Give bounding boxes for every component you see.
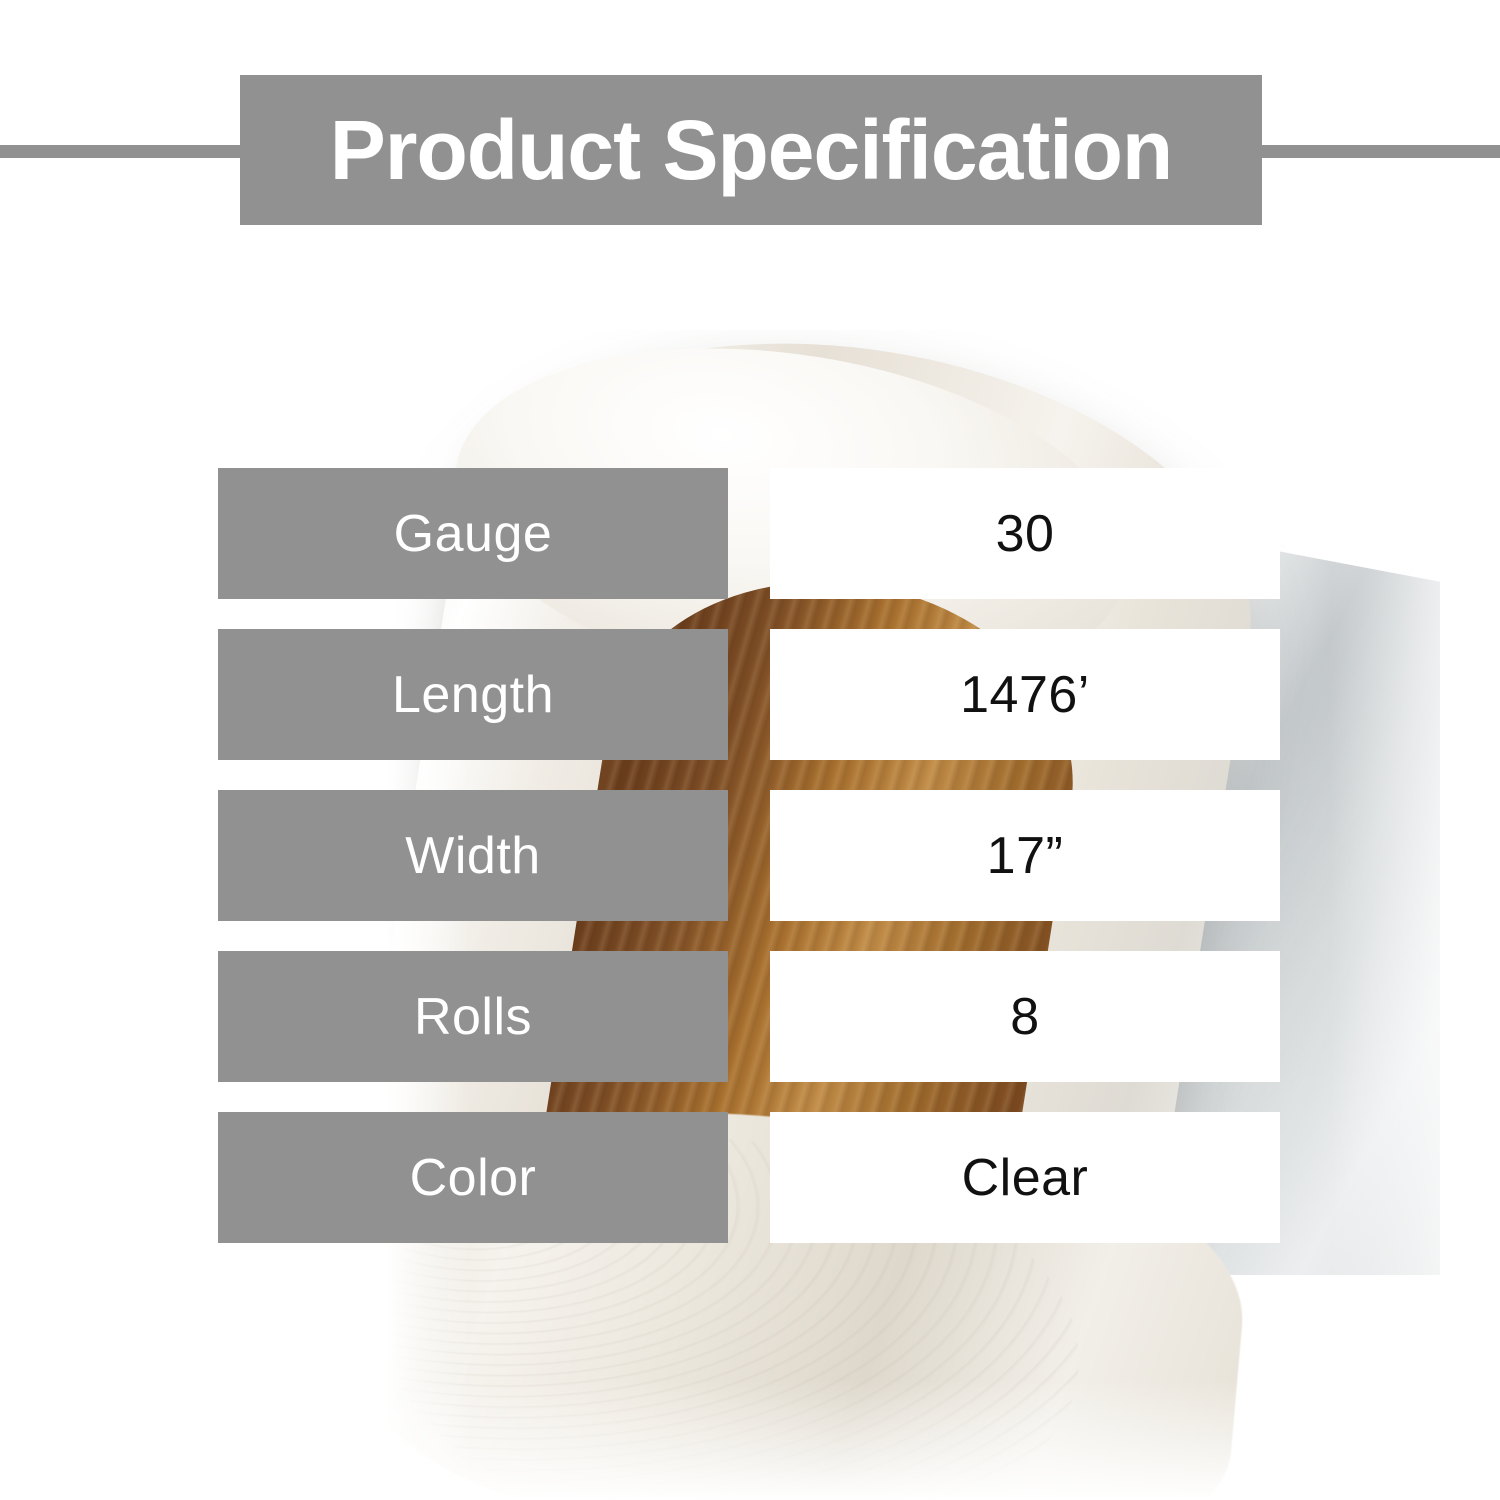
spec-value-color: Clear xyxy=(770,1112,1280,1243)
header-banner: Product Specification xyxy=(240,75,1262,225)
photo-fade-bottom xyxy=(0,1380,1500,1500)
specification-table: Gauge 30 Length 1476’ Width 17” Rolls 8 … xyxy=(218,468,1280,1273)
spec-label-color: Color xyxy=(218,1112,728,1243)
spec-label-gauge: Gauge xyxy=(218,468,728,599)
spec-label-rolls: Rolls xyxy=(218,951,728,1082)
spec-value-length: 1476’ xyxy=(770,629,1280,760)
page-title: Product Specification xyxy=(330,108,1172,192)
spec-value-gauge: 30 xyxy=(770,468,1280,599)
product-specification-page: Product Specification Gauge 30 Length 14… xyxy=(0,0,1500,1500)
spec-value-rolls: 8 xyxy=(770,951,1280,1082)
spec-label-width: Width xyxy=(218,790,728,921)
table-row: Rolls 8 xyxy=(218,951,1280,1082)
table-row: Color Clear xyxy=(218,1112,1280,1243)
spec-value-width: 17” xyxy=(770,790,1280,921)
table-row: Length 1476’ xyxy=(218,629,1280,760)
table-row: Width 17” xyxy=(218,790,1280,921)
spec-label-length: Length xyxy=(218,629,728,760)
table-row: Gauge 30 xyxy=(218,468,1280,599)
